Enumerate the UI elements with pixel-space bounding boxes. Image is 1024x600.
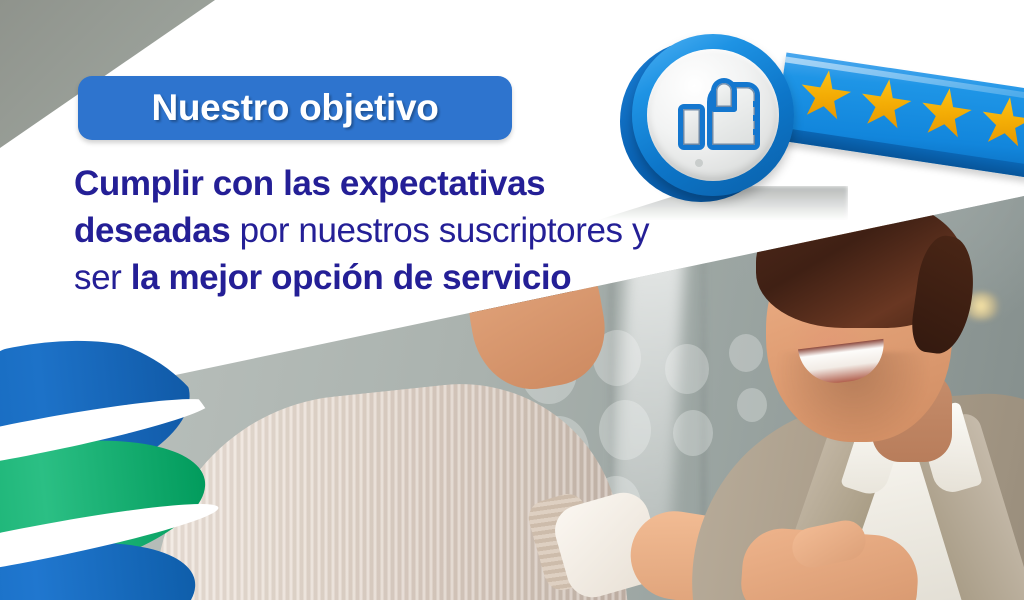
marketing-banner: Nuestro objetivo Cumplir con las expecta… xyxy=(0,0,1024,600)
star-icon xyxy=(977,93,1024,152)
company-logo xyxy=(0,336,234,600)
thumb-knuckle xyxy=(748,129,757,135)
section-label-text: Nuestro objetivo xyxy=(151,87,438,129)
thumb-knuckle xyxy=(748,101,757,107)
thumb-extended xyxy=(711,78,737,112)
page-headline: Cumplir con las expectativas deseadas po… xyxy=(74,160,654,301)
star-icon xyxy=(856,75,915,134)
section-label-pill: Nuestro objetivo xyxy=(78,76,512,140)
thumb-knuckle xyxy=(748,115,757,121)
headline-bold-2: la mejor opción de servicio xyxy=(131,258,571,297)
thumbs-up-icon xyxy=(678,82,760,154)
logo-globe xyxy=(0,336,234,600)
star-icon xyxy=(796,66,855,125)
thumb-cuff-dot xyxy=(695,159,703,167)
thumb-cuff xyxy=(678,104,705,150)
star-icon xyxy=(916,84,975,143)
award-graphic xyxy=(610,16,1024,216)
